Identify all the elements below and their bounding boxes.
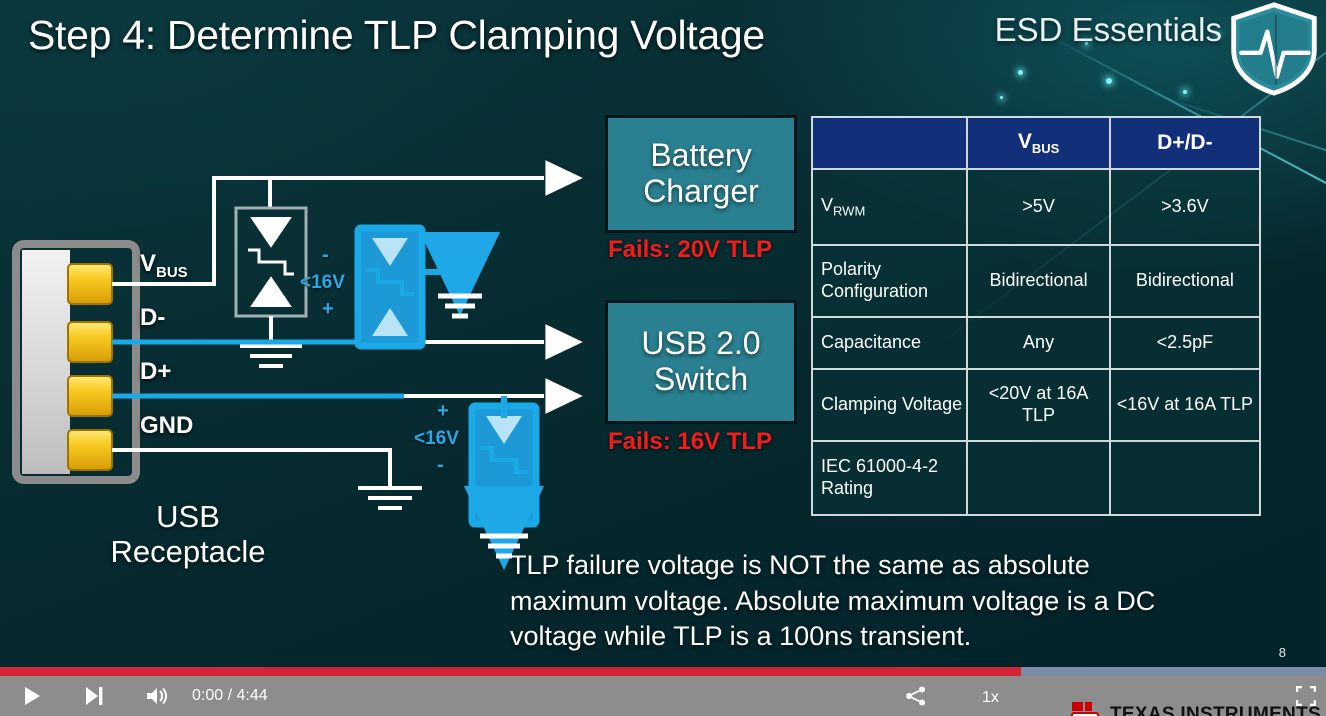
block-usb-switch: USB 2.0 Switch [605,300,797,424]
video-timecode: 0:00 / 4:44 [192,687,268,705]
brand-label: ESD Essentials [995,11,1222,49]
row-label-vrwm: VRWM [812,169,967,245]
play-button[interactable] [22,686,42,706]
fail-note-battery-charger: Fails: 20V TLP [608,236,772,264]
usb-receptacle-caption-line2: Receptacle [98,535,278,570]
requirements-table: VBUS D+/D- VRWM >5V >3.6V Polarity Confi… [811,116,1261,516]
texas-instruments-logo: TEXAS INSTRUMENTS [1070,700,1321,716]
cell-capacitance-dpdm: <2.5pF [1110,317,1260,369]
tvs-upper-top-sign: - [322,244,329,267]
cell-polarity-vbus: Bidirectional [967,245,1109,317]
cell-vrwm-dpdm: >3.6V [1110,169,1260,245]
block-usb-switch-line2: Switch [654,362,748,398]
video-progress-played [0,667,1021,676]
svg-text:1x: 1x [982,689,999,706]
playback-speed-button[interactable]: 1x [982,686,1008,706]
pin-label-dplus: D+ [140,358,171,386]
shield-pulse-icon [1226,0,1322,96]
table-header-vbus-sub: BUS [1032,141,1059,156]
tvs-lower-top-sign: + [437,400,449,423]
cell-clamping-vbus: <20V at 16A TLP [967,369,1109,441]
block-battery-charger-line1: Battery [650,138,751,174]
cell-vrwm-vbus: >5V [967,169,1109,245]
next-button[interactable] [84,686,104,706]
background-dot-3 [1106,78,1112,84]
tvs-upper-voltage: <16V [300,272,345,294]
share-button[interactable] [905,686,927,706]
cell-iec-vbus [967,441,1109,515]
table-header-vbus: VBUS [967,117,1109,169]
block-usb-switch-line1: USB 2.0 [641,326,760,362]
cell-polarity-dpdm: Bidirectional [1110,245,1260,317]
row-label-capacitance: Capacitance [812,317,967,369]
cell-clamping-dpdm: <16V at 16A TLP [1110,369,1260,441]
tvs-lower-voltage: <16V [414,428,459,450]
table-row: VRWM >5V >3.6V [812,169,1260,245]
ti-mark-icon [1070,700,1104,716]
row-label-iec-rating: IEC 61000-4-2 Rating [812,441,967,515]
row-label-clamping-voltage: Clamping Voltage [812,369,967,441]
row-label-vrwm-sub: RWM [833,204,865,219]
background-dot-4 [1183,90,1187,94]
volume-button[interactable] [146,686,170,706]
page-title: Step 4: Determine TLP Clamping Voltage [28,12,765,59]
ti-wordmark: TEXAS INSTRUMENTS [1110,704,1321,716]
pin-label-vbus: VBUS [140,250,188,281]
background-dot-7 [1000,96,1003,99]
table-row: IEC 61000-4-2 Rating [812,441,1260,515]
table-row: Clamping Voltage <20V at 16A TLP <16V at… [812,369,1260,441]
table-header-row: VBUS D+/D- [812,117,1260,169]
slide-page-number: 8 [1279,645,1286,660]
tvs-upper-bottom-sign: + [322,298,334,321]
cell-iec-dpdm [1110,441,1260,515]
cell-capacitance-vbus: Any [967,317,1109,369]
usb-receptacle-caption: USB Receptacle [98,500,278,569]
pin-label-gnd: GND [140,412,193,440]
block-battery-charger-line2: Charger [643,174,759,210]
usb-receptacle-caption-line1: USB [98,500,278,535]
row-label-polarity: Polarity Configuration [812,245,967,317]
fail-note-usb-switch: Fails: 16V TLP [608,428,772,456]
video-progress-bar[interactable] [0,667,1326,676]
pin-label-dminus: D- [140,304,165,332]
tvs-lower-bottom-sign: - [437,454,444,477]
table-header-blank [812,117,967,169]
table-header-dpdm: D+/D- [1110,117,1260,169]
block-battery-charger: Battery Charger [605,115,797,233]
slide-canvas: Step 4: Determine TLP Clamping Voltage E… [0,0,1326,667]
video-player-stage: Step 4: Determine TLP Clamping Voltage E… [0,0,1326,716]
slide-note-text: TLP failure voltage is NOT the same as a… [510,548,1210,655]
background-dot-1 [1018,70,1023,75]
table-row: Polarity Configuration Bidirectional Bid… [812,245,1260,317]
table-row: Capacitance Any <2.5pF [812,317,1260,369]
